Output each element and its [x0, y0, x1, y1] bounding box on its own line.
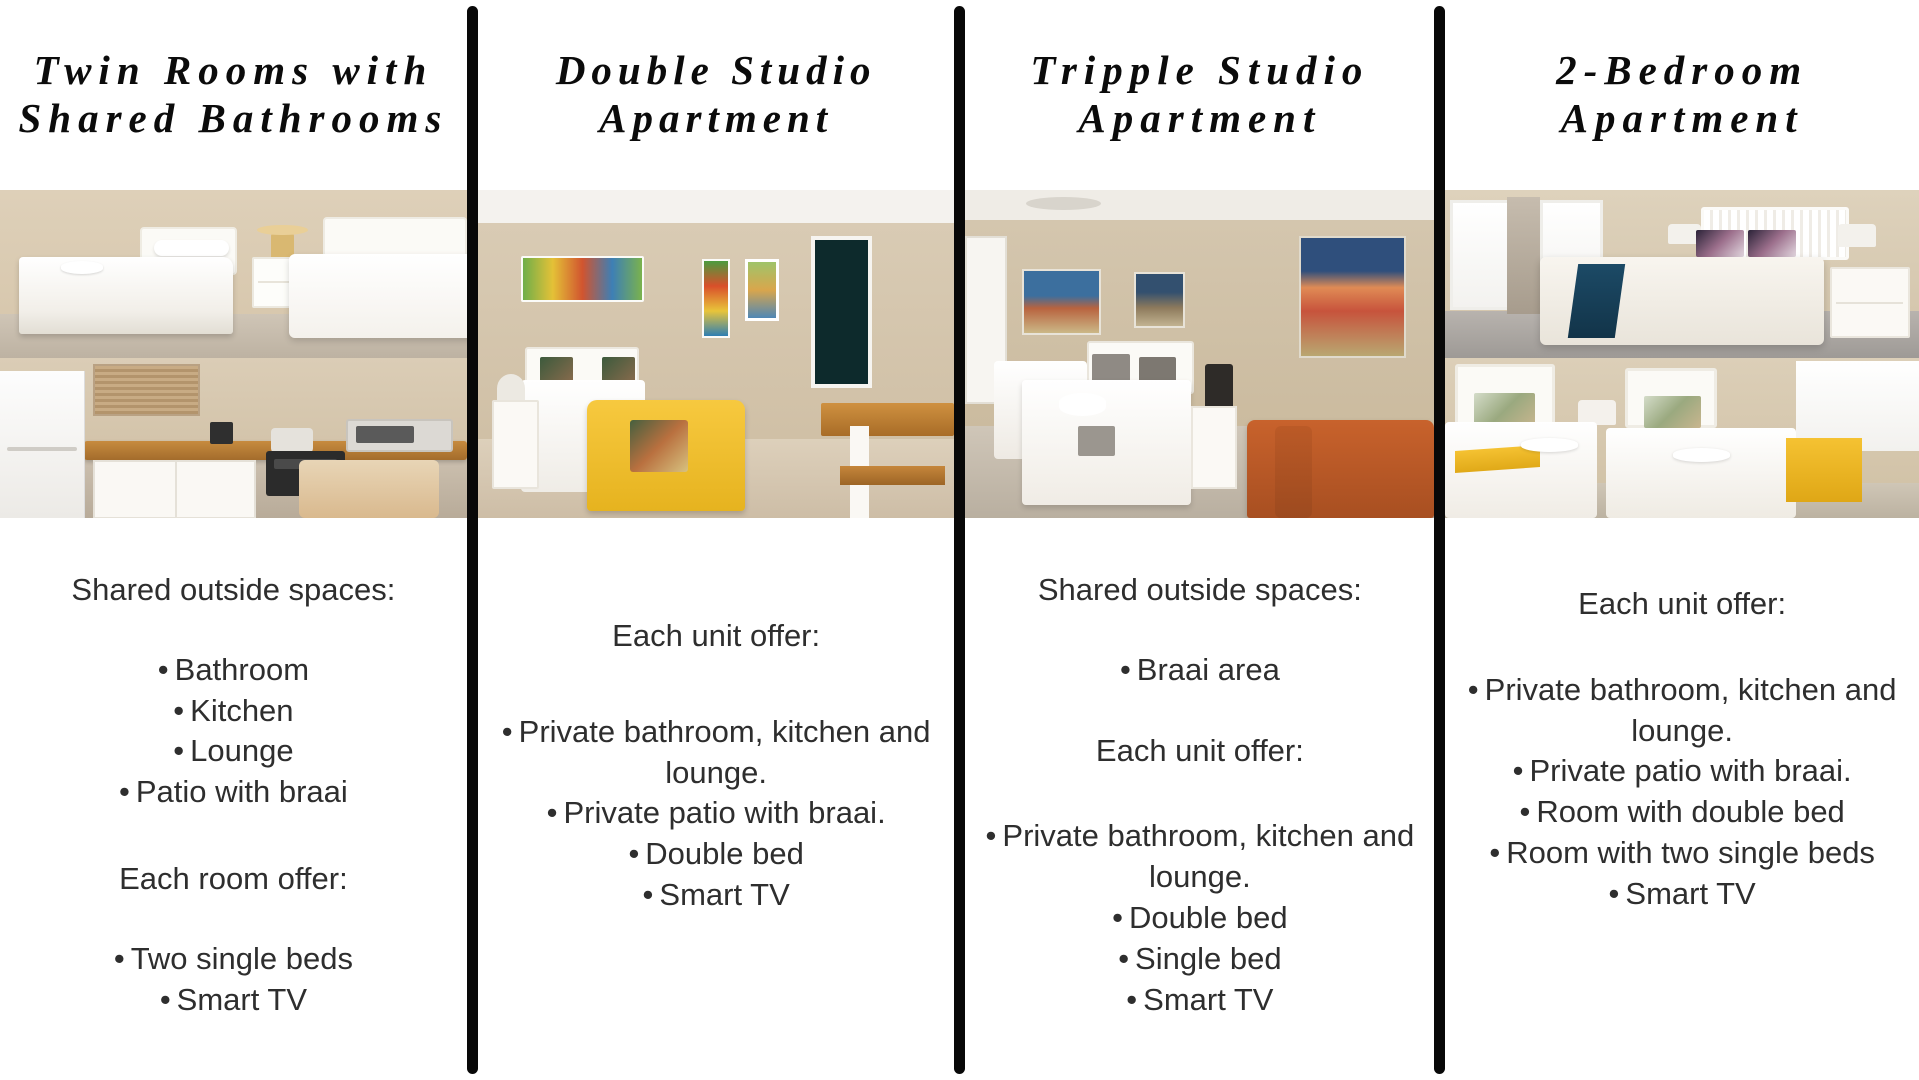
list-item: •Braai area — [977, 650, 1422, 691]
bullet-icon: • — [1519, 794, 1530, 829]
list-item-label: Smart TV — [659, 877, 789, 912]
column-4-photo-area — [1445, 190, 1919, 518]
folded-towel — [61, 261, 103, 274]
wall-painting-1 — [1022, 269, 1101, 335]
column-tripple-studio: Tripple Studio Apartment — [965, 0, 1434, 1080]
column-1-body: Shared outside spaces: •Bathroom •Kitche… — [0, 518, 467, 1080]
bullet-icon: • — [1118, 941, 1129, 976]
two-bedroom-main-bedroom-photo — [1445, 190, 1919, 358]
list-item-label: Private bathroom, kitchen and lounge. — [1485, 672, 1897, 748]
bullet-icon: • — [1126, 982, 1137, 1017]
list-item: •Kitchen — [12, 691, 455, 732]
bullet-icon: • — [173, 693, 184, 728]
list-item: •Private bathroom, kitchen and lounge. — [977, 816, 1422, 898]
column-4-body: Each unit offer: •Private bathroom, kitc… — [1445, 518, 1919, 1080]
list-item-label: Smart TV — [1143, 982, 1273, 1017]
column-2-section-1-list: •Private bathroom, kitchen and lounge. •… — [490, 712, 943, 917]
list-item-label: Room with two single beds — [1506, 835, 1875, 870]
wooden-table — [821, 403, 954, 436]
nightstand — [1191, 406, 1237, 489]
second-bedroom-scene — [1445, 358, 1919, 518]
pillow-left — [154, 240, 229, 255]
list-item-label: Lounge — [190, 733, 293, 768]
bullet-icon: • — [158, 652, 169, 687]
list-item: •Private patio with braai. — [1457, 751, 1907, 792]
list-item-label: Private patio with braai. — [1529, 753, 1851, 788]
column-3-header: Tripple Studio Apartment — [965, 0, 1434, 190]
double-studio-scene — [478, 190, 955, 518]
bullet-icon: • — [119, 774, 130, 809]
list-item-label: Smart TV — [177, 982, 307, 1017]
bullet-icon: • — [628, 836, 639, 871]
ceiling-fan — [1026, 197, 1101, 210]
list-item: •Room with two single beds — [1457, 833, 1907, 874]
column-2-title: Double Studio Apartment — [486, 47, 947, 142]
wall-art-wide — [521, 256, 644, 303]
floral-cushion-right — [1748, 230, 1795, 257]
bullet-icon: • — [1489, 835, 1500, 870]
shared-kitchen-scene — [0, 358, 467, 518]
single-bed-left — [19, 257, 234, 334]
column-1-section-2-list: •Two single beds •Smart TV — [12, 939, 455, 1021]
column-3-photo-area — [965, 190, 1434, 518]
list-item-label: Kitchen — [190, 693, 293, 728]
twin-bedroom-scene — [0, 190, 467, 358]
wall-art-strip — [702, 259, 730, 338]
column-3-section-2-heading: Each unit offer: — [977, 731, 1422, 771]
bed-runner — [1078, 426, 1116, 456]
folded-towel-right — [1673, 448, 1730, 462]
column-4-title: 2-Bedroom Apartment — [1453, 47, 1911, 142]
column-4-header: 2-Bedroom Apartment — [1445, 0, 1919, 190]
list-item: •Room with double bed — [1457, 792, 1907, 833]
curtain — [1507, 197, 1540, 315]
double-studio-interior-photo — [478, 190, 955, 518]
fridge — [0, 371, 85, 518]
list-item: •Private bathroom, kitchen and lounge. — [490, 712, 943, 794]
couch — [299, 460, 439, 518]
list-item-label: Bathroom — [175, 652, 309, 687]
wall-art-small — [745, 259, 780, 321]
twin-bedroom-photo — [0, 190, 467, 358]
ceiling — [478, 190, 955, 223]
list-item-label: Private patio with braai. — [563, 795, 885, 830]
column-divider-1 — [467, 6, 478, 1074]
bullet-icon: • — [173, 733, 184, 768]
bullet-icon: • — [1112, 900, 1123, 935]
column-2-body: Each unit offer: •Private bathroom, kitc… — [478, 518, 955, 1080]
column-3-section-1-list: •Braai area — [977, 650, 1422, 691]
list-item: •Private bathroom, kitchen and lounge. — [1457, 670, 1907, 752]
list-item: •Double bed — [977, 898, 1422, 939]
tripple-studio-scene — [965, 190, 1434, 518]
bullet-icon: • — [1120, 652, 1131, 687]
column-two-bedroom: 2-Bedroom Apartment — [1445, 0, 1919, 1080]
list-item: •Smart TV — [12, 980, 455, 1021]
spacer — [12, 610, 455, 650]
list-item-label: Double bed — [1129, 900, 1288, 935]
chest-of-drawers — [1830, 267, 1910, 338]
bullet-icon: • — [643, 877, 654, 912]
bullet-icon: • — [986, 818, 997, 853]
list-item: •Bathroom — [12, 650, 455, 691]
column-1-section-1-heading: Shared outside spaces: — [12, 570, 455, 610]
main-bedroom-scene — [1445, 190, 1919, 358]
folded-towels — [1059, 393, 1106, 416]
bullet-icon: • — [1468, 672, 1479, 707]
spacer — [977, 691, 1422, 731]
bedside-lamp — [497, 374, 526, 404]
floral-cushion-left — [1696, 230, 1743, 257]
list-item: •Smart TV — [977, 980, 1422, 1021]
window-blind — [93, 364, 200, 416]
kitchen-cabinets — [93, 460, 256, 518]
column-2-header: Double Studio Apartment — [478, 0, 955, 190]
spacer — [977, 610, 1422, 650]
list-item-label: Single bed — [1135, 941, 1282, 976]
column-3-body: Shared outside spaces: •Braai area Each … — [965, 518, 1434, 1080]
wall-painting-2 — [1134, 272, 1185, 328]
bench — [840, 466, 945, 486]
column-divider-2 — [954, 6, 965, 1074]
spacer — [1457, 624, 1907, 670]
floral-cushion — [630, 420, 687, 472]
bullet-icon: • — [1609, 876, 1620, 911]
list-item: •Double bed — [490, 834, 943, 875]
column-divider-3 — [1434, 6, 1445, 1074]
list-item: •Two single beds — [12, 939, 455, 980]
single-bed-right — [289, 254, 466, 338]
bullet-icon: • — [160, 982, 171, 1017]
spacer — [12, 813, 455, 859]
orange-sofa-armrest — [1275, 426, 1313, 518]
wall-painting-3 — [1299, 236, 1406, 358]
list-item-label: Double bed — [645, 836, 804, 871]
yellow-throw-right — [1786, 438, 1862, 502]
bullet-icon: • — [114, 941, 125, 976]
spacer — [12, 899, 455, 939]
column-3-section-1-heading: Shared outside spaces: — [977, 570, 1422, 610]
list-item-label: Patio with braai — [136, 774, 348, 809]
spacer — [490, 656, 943, 712]
bedside-lamp-right — [1838, 224, 1876, 248]
list-item: •Single bed — [977, 939, 1422, 980]
folded-towel-left — [1521, 438, 1578, 452]
list-item: •Patio with braai — [12, 772, 455, 813]
accommodation-comparison-board: Twin Rooms with Shared Bathrooms — [0, 0, 1919, 1080]
two-bedroom-second-bedroom-photo — [1445, 358, 1919, 518]
column-1-title: Twin Rooms with Shared Bathrooms — [8, 47, 459, 142]
list-item-label: Braai area — [1137, 652, 1280, 687]
column-twin-rooms: Twin Rooms with Shared Bathrooms — [0, 0, 467, 1080]
bullet-icon: • — [547, 795, 558, 830]
column-1-photo-area — [0, 190, 467, 518]
list-item: •Lounge — [12, 731, 455, 772]
list-item-label: Two single beds — [131, 941, 353, 976]
microwave — [346, 419, 453, 452]
doorway — [811, 236, 871, 388]
tripple-studio-interior-photo — [965, 190, 1434, 518]
bedside-lamp — [271, 234, 294, 258]
list-item: •Smart TV — [490, 875, 943, 916]
column-4-section-1-list: •Private bathroom, kitchen and lounge. •… — [1457, 670, 1907, 915]
column-1-section-2-heading: Each room offer: — [12, 859, 455, 899]
column-2-section-1-heading: Each unit offer: — [490, 616, 943, 656]
list-item: •Private patio with braai. — [490, 793, 943, 834]
window-left — [1450, 200, 1513, 310]
list-item-label: Private bathroom, kitchen and lounge. — [1002, 818, 1414, 894]
bullet-icon: • — [1513, 753, 1524, 788]
column-3-section-2-list: •Private bathroom, kitchen and lounge. •… — [977, 816, 1422, 1021]
shared-kitchen-photo — [0, 358, 467, 518]
column-1-section-1-list: •Bathroom •Kitchen •Lounge •Patio with b… — [12, 650, 455, 814]
vase — [210, 422, 233, 444]
column-2-photo-area — [478, 190, 955, 518]
list-item-label: Private bathroom, kitchen and lounge. — [519, 714, 931, 790]
column-3-title: Tripple Studio Apartment — [973, 47, 1426, 142]
column-1-header: Twin Rooms with Shared Bathrooms — [0, 0, 467, 190]
bullet-icon: • — [502, 714, 513, 749]
list-item: •Smart TV — [1457, 874, 1907, 915]
column-4-section-1-heading: Each unit offer: — [1457, 584, 1907, 624]
nightstand — [492, 400, 539, 489]
column-double-studio: Double Studio Apartment — [478, 0, 955, 1080]
spacer — [977, 770, 1422, 816]
floral-cushion-right — [1644, 396, 1701, 428]
list-item-label: Room with double bed — [1536, 794, 1844, 829]
single-bed-right — [1606, 428, 1795, 518]
list-item-label: Smart TV — [1625, 876, 1755, 911]
